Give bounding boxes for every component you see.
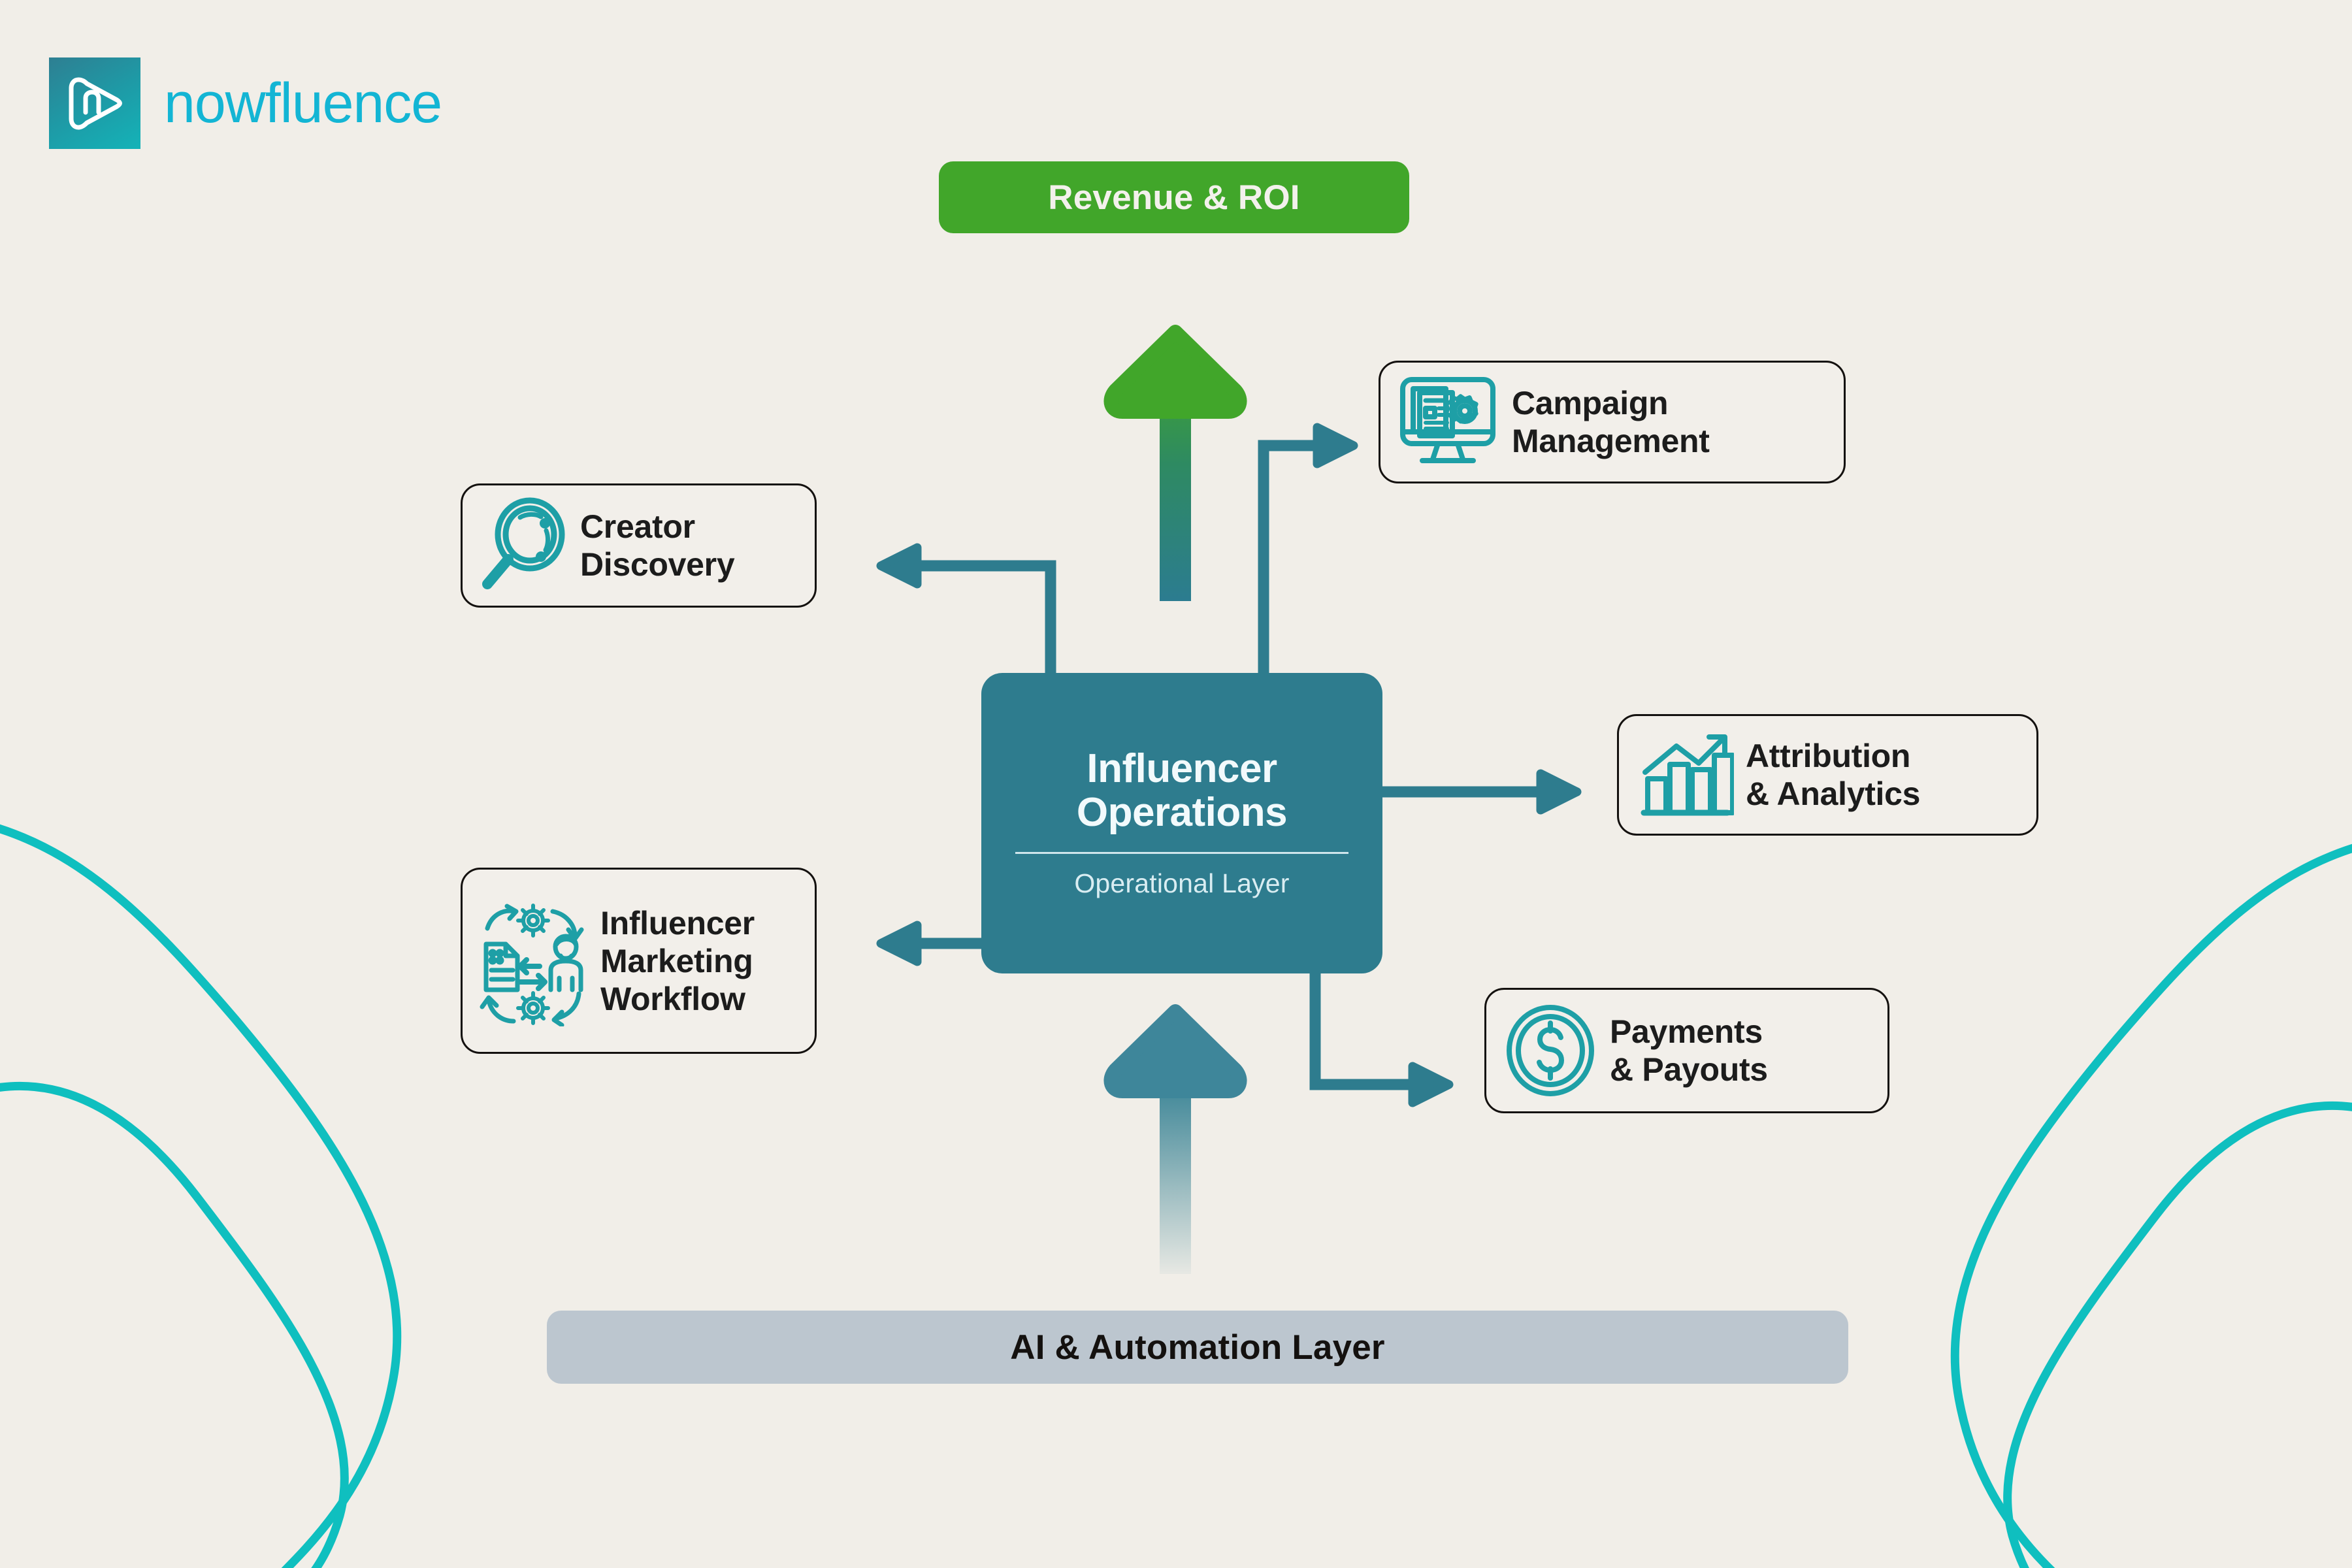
- card-label-creator-discovery: Creator Discovery: [580, 508, 734, 583]
- card-influencer-marketing-workflow[interactable]: Influencer Marketing Workflow: [461, 868, 817, 1054]
- connector-ai-layer-to-hub-arrow: [1111, 1011, 1239, 1274]
- hub-influencer-operations[interactable]: Influencer Operations Operational Layer: [981, 673, 1382, 973]
- label-line-2: Management: [1512, 422, 1710, 460]
- label-line-1: Campaign: [1512, 384, 1710, 422]
- label-line-2: & Analytics: [1746, 775, 1920, 813]
- connector-hub-to-revenue-arrow: [1111, 332, 1239, 601]
- label-line-2: & Payouts: [1610, 1051, 1768, 1088]
- card-attribution-analytics[interactable]: Attribution & Analytics: [1617, 714, 2038, 836]
- label-line-2: Discovery: [580, 546, 734, 583]
- label-line-1: Influencer: [600, 904, 755, 942]
- label-line-1: Creator: [580, 508, 734, 546]
- play-n-logo-icon: [49, 57, 140, 149]
- label-line-1: Attribution: [1746, 737, 1920, 775]
- revenue-roi-badge[interactable]: Revenue & ROI: [939, 161, 1409, 233]
- connector-hub-to-campaign-management: [1264, 427, 1354, 673]
- label-line-2: Marketing: [600, 942, 755, 980]
- connector-hub-to-payments-payouts: [1315, 973, 1449, 1103]
- card-label-influencer-marketing-workflow: Influencer Marketing Workflow: [600, 904, 755, 1018]
- card-creator-discovery[interactable]: Creator Discovery: [461, 483, 817, 608]
- connector-hub-to-attribution-analytics: [1382, 774, 1577, 810]
- ai-automation-layer-bar[interactable]: AI & Automation Layer: [547, 1311, 1848, 1384]
- ai-automation-layer-label: AI & Automation Layer: [1010, 1328, 1385, 1367]
- connector-hub-to-creator-discovery: [881, 547, 1051, 673]
- card-label-payments-payouts: Payments & Payouts: [1610, 1013, 1768, 1088]
- connector-hub-to-workflow: [881, 925, 981, 962]
- label-line-3: Workflow: [600, 980, 755, 1018]
- hub-subtitle: Operational Layer: [1074, 868, 1289, 899]
- card-payments-payouts[interactable]: Payments & Payouts: [1484, 988, 1889, 1113]
- monitor-gear-icon: [1397, 373, 1499, 471]
- diagram-canvas: nowfluence Revenue & ROI: [0, 0, 2352, 1568]
- card-label-attribution-analytics: Attribution & Analytics: [1746, 737, 1920, 813]
- bar-chart-growth-icon: [1636, 729, 1734, 821]
- hub-title-line1: Influencer: [1077, 747, 1287, 791]
- magnifier-icon: [478, 497, 570, 595]
- hub-title-line2: Operations: [1077, 791, 1287, 835]
- dollar-coin-icon: [1503, 1004, 1598, 1098]
- label-line-1: Payments: [1610, 1013, 1768, 1051]
- hub-divider: [1015, 852, 1348, 854]
- workflow-cycle-icon: [477, 896, 591, 1026]
- brand-wordmark: nowfluence: [164, 75, 442, 131]
- revenue-roi-label: Revenue & ROI: [1048, 178, 1299, 218]
- brand-logo[interactable]: nowfluence: [49, 57, 442, 149]
- card-label-campaign-management: Campaign Management: [1512, 384, 1710, 460]
- card-campaign-management[interactable]: Campaign Management: [1379, 361, 1846, 483]
- hub-title: Influencer Operations: [1077, 747, 1287, 835]
